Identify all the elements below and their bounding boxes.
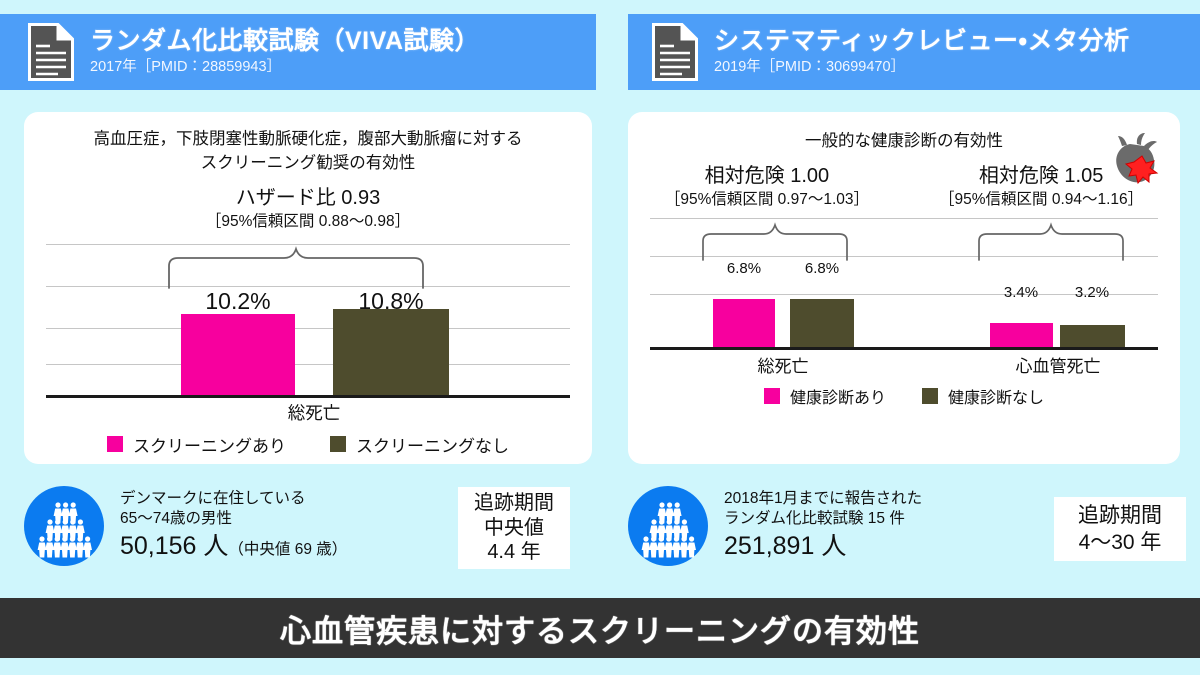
hazard-ratio-value: ハザード比 0.93 [206, 186, 410, 211]
followup-left-line-2: 中央値 [484, 516, 544, 541]
comparison-brace [166, 246, 426, 288]
legend-label-checkup-yes: 健康診断あり [790, 384, 886, 408]
chart-left-category-row: 総死亡 [46, 398, 570, 428]
bar-label-screening-yes: 10.2% [205, 288, 270, 315]
category-label-all-cause-death: 総死亡 [288, 400, 341, 425]
chart-right-category-row: 総死亡 心血管死亡 [650, 350, 1158, 380]
people-group-icon [628, 486, 708, 566]
population-count-note: （中央値 69 歳） [228, 541, 347, 558]
bar-checkup-yes-cv [990, 323, 1053, 347]
population-count-value: 50,156 人 [120, 532, 228, 560]
bar-label-checkup-no-cv: 3.2% [1075, 284, 1109, 301]
chart-right-title: 一般的な健康診断の有効性 [646, 130, 1162, 154]
chart-left-plot: 10.2% 10.8% [46, 244, 570, 398]
footer-banner: 心血管疾患に対するスクリーニングの有効性 [0, 598, 1200, 658]
chart-left-stat-row: ハザード比 0.93 ［95%信頼区間 0.88〜0.98］ [24, 186, 592, 232]
legend-item-screening-yes: スクリーニングあり [107, 432, 286, 457]
followup-left-line-1: 追跡期間 [474, 491, 554, 516]
people-group-icon [24, 486, 104, 566]
population-line-1: 2018年1月までに報告された [724, 489, 922, 509]
legend-item-screening-no: スクリーニングなし [330, 432, 509, 457]
panel-left-title: ランダム化比較試験（VIVA試験） [90, 28, 480, 56]
chart-right-legend: 健康診断あり 健康診断なし [628, 384, 1180, 408]
document-icon [652, 23, 698, 81]
gridline [650, 218, 1158, 219]
chart-card-left: 高血圧症，下肢閉塞性動脈硬化症，腹部大動脈瘤に対する スクリーニング勧奨の有効性… [24, 112, 592, 464]
followup-right-line-1: 追跡期間 [1078, 502, 1162, 529]
chart-left-title: 高血圧症，下肢閉塞性動脈硬化症，腹部大動脈瘤に対する スクリーニング勧奨の有効性 [42, 128, 574, 176]
legend-label-screening-no: スクリーニングなし [356, 432, 509, 457]
population-line-2: ランダム化比較試験 15 件 [724, 509, 922, 529]
document-icon [28, 23, 74, 81]
chart-left-title-line-1: 高血圧症，下肢閉塞性動脈硬化症，腹部大動脈瘤に対する [42, 128, 574, 152]
followup-box-left: 追跡期間 中央値 4.4 年 [458, 487, 570, 569]
chart-right-plot: 6.8% 6.8% 3.4% 3.2% [650, 218, 1158, 350]
relative-risk-cv-ci: ［95%信頼区間 0.94〜1.16］ [939, 190, 1143, 210]
panel-right-banner: システマティックレビュー・メタ分析 2019年［PMID：30699470］ [628, 14, 1200, 90]
population-line-1: デンマークに在住している [120, 489, 347, 509]
population-info-right: 2018年1月までに報告された ランダム化比較試験 15 件 251,891 人 [628, 486, 922, 566]
infographic-root: ランダム化比較試験（VIVA試験） 2017年［PMID：28859943］ シ… [0, 0, 1200, 675]
comparison-brace-cv [976, 222, 1126, 260]
footer-banner-title: 心血管疾患に対するスクリーニングの有効性 [280, 606, 920, 651]
population-text-right: 2018年1月までに報告された ランダム化比較試験 15 件 251,891 人 [724, 489, 922, 564]
population-count-left: 50,156 人（中央値 69 歳） [120, 530, 347, 563]
chart-right-stat-row: 相対危険 1.00 ［95%信頼区間 0.97〜1.03］ 相対危険 1.05 … [628, 164, 1180, 210]
chart-right-stat-allcause: 相対危険 1.00 ［95%信頼区間 0.97〜1.03］ [665, 164, 869, 210]
panel-left-banner-text: ランダム化比較試験（VIVA試験） 2017年［PMID：28859943］ [90, 28, 480, 76]
comparison-brace-allcause [700, 222, 850, 260]
population-count-right: 251,891 人 [724, 530, 922, 563]
bar-checkup-no-allcause [790, 299, 854, 347]
chart-left-stat: ハザード比 0.93 ［95%信頼区間 0.88〜0.98］ [206, 186, 410, 232]
bar-checkup-no-cv [1060, 325, 1125, 347]
legend-swatch-pink [107, 436, 123, 452]
panel-right-banner-text: システマティックレビュー・メタ分析 2019年［PMID：30699470］ [714, 28, 1130, 76]
panel-right-title: システマティックレビュー・メタ分析 [714, 28, 1130, 56]
gridline [46, 328, 570, 329]
bar-screening-yes-allcause [181, 314, 295, 395]
legend-swatch-pink [764, 388, 780, 404]
bar-label-checkup-yes-cv: 3.4% [1004, 284, 1038, 301]
followup-right-line-2: 4〜30 年 [1079, 529, 1162, 556]
followup-left-line-3: 4.4 年 [487, 540, 540, 565]
legend-label-screening-yes: スクリーニングあり [133, 432, 286, 457]
legend-swatch-olive [922, 388, 938, 404]
category-label-all-cause-death: 総死亡 [758, 352, 809, 377]
bar-checkup-yes-allcause [713, 299, 775, 347]
bar-label-checkup-yes-allcause: 6.8% [727, 260, 761, 277]
gridline [46, 364, 570, 365]
relative-risk-allcause-value: 相対危険 1.00 [665, 164, 869, 189]
relative-risk-allcause-ci: ［95%信頼区間 0.97〜1.03］ [665, 190, 869, 210]
heart-burst-icon [1104, 130, 1166, 192]
legend-item-checkup-yes: 健康診断あり [764, 384, 886, 408]
chart-card-right: 一般的な健康診断の有効性 相対危険 1.00 ［95%信頼区間 0.97〜1.0… [628, 112, 1180, 464]
population-info-left: デンマークに在住している 65〜74歳の男性 50,156 人（中央値 69 歳… [24, 486, 347, 566]
category-label-cv-death: 心血管死亡 [1016, 352, 1101, 377]
bar-label-checkup-no-allcause: 6.8% [805, 260, 839, 277]
population-line-2: 65〜74歳の男性 [120, 509, 347, 529]
legend-item-checkup-no: 健康診断なし [922, 384, 1044, 408]
hazard-ratio-ci: ［95%信頼区間 0.88〜0.98］ [206, 212, 410, 232]
panel-left-subtitle: 2017年［PMID：28859943］ [90, 60, 480, 76]
gridline [46, 244, 570, 245]
chart-left-title-line-2: スクリーニング勧奨の有効性 [42, 152, 574, 176]
chart-left-legend: スクリーニングあり スクリーニングなし [24, 432, 592, 457]
panel-right-subtitle: 2019年［PMID：30699470］ [714, 60, 1130, 76]
chart-right-title-line-1: 一般的な健康診断の有効性 [646, 130, 1162, 154]
population-text-left: デンマークに在住している 65〜74歳の男性 50,156 人（中央値 69 歳… [120, 489, 347, 564]
legend-label-checkup-no: 健康診断なし [948, 384, 1044, 408]
bar-screening-no-allcause [333, 309, 449, 395]
followup-box-right: 追跡期間 4〜30 年 [1054, 497, 1186, 561]
population-count-value: 251,891 人 [724, 532, 846, 560]
legend-swatch-olive [330, 436, 346, 452]
panel-left-banner: ランダム化比較試験（VIVA試験） 2017年［PMID：28859943］ [0, 14, 596, 90]
bar-label-screening-no: 10.8% [358, 288, 423, 315]
